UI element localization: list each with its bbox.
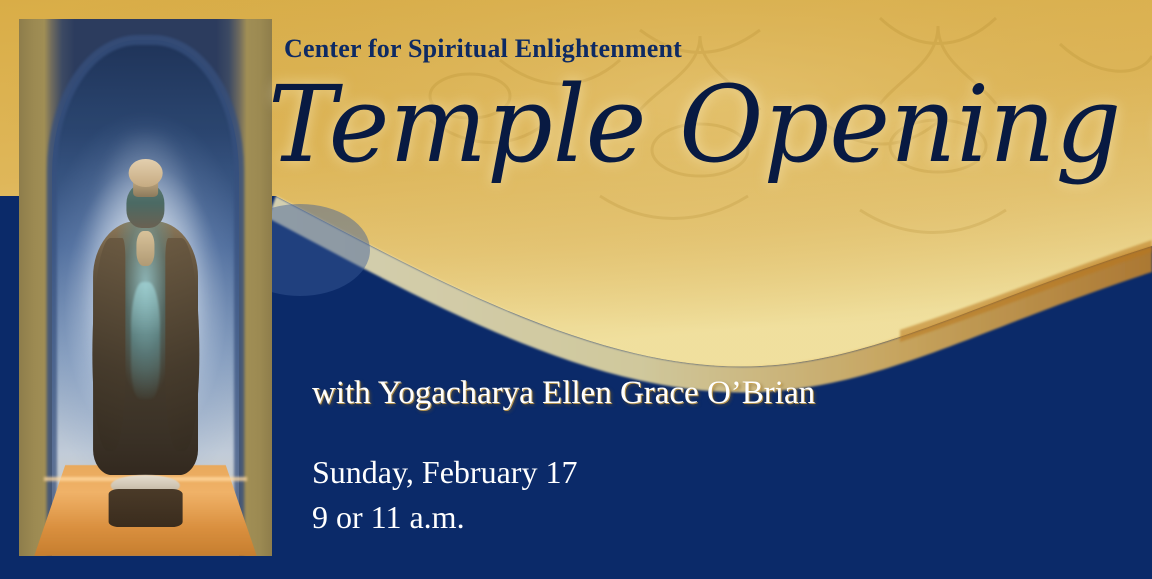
statue-robe-highlight xyxy=(131,282,160,399)
page-title: Temple Opening Ceremony xyxy=(268,72,1152,178)
statue-shawl-left xyxy=(92,238,125,451)
statue-in-niche-photo xyxy=(19,19,272,556)
event-date: Sunday, February 17 xyxy=(312,450,577,495)
organization-name: Center for Spiritual Enlightenment xyxy=(284,34,682,64)
statue-pedestal xyxy=(109,489,182,527)
statue-figure xyxy=(90,169,201,513)
statue-hands xyxy=(137,231,155,265)
event-schedule: Sunday, February 17 9 or 11 a.m. xyxy=(312,450,577,541)
event-poster: Center for Spiritual Enlightenment Templ… xyxy=(0,0,1152,579)
event-times: 9 or 11 a.m. xyxy=(312,495,577,540)
presenter-line: with Yogacharya Ellen Grace O’Brian xyxy=(312,375,815,412)
